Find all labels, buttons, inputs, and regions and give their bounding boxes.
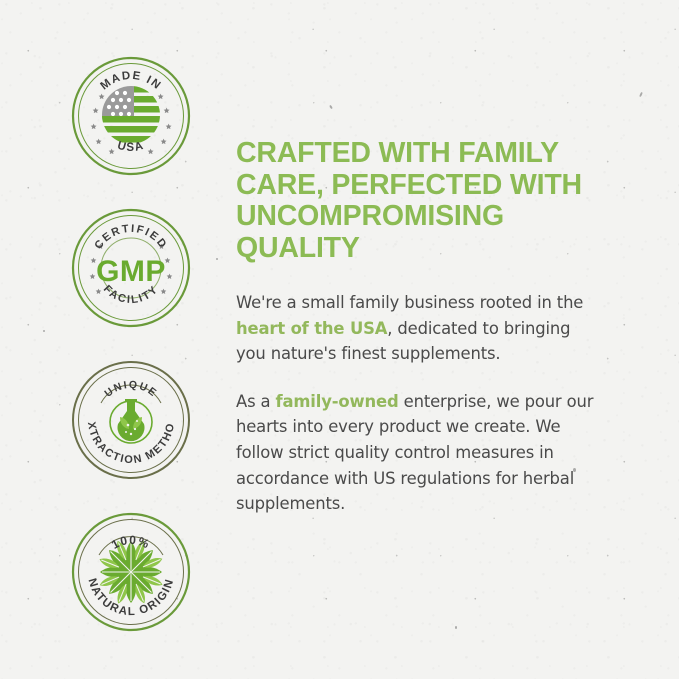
badge-made-in-usa: MADE IN USA — [70, 55, 192, 177]
paragraph-one: We're a small family business rooted in … — [236, 290, 596, 367]
trust-badge-column: MADE IN USA — [70, 55, 192, 663]
paragraph-two: As a family-owned enterprise, we pour ou… — [236, 389, 596, 517]
paragraph-one-highlight: heart of the USA — [236, 319, 387, 338]
badge-natural-origin: 100% NATURAL ORIGIN — [70, 511, 192, 633]
paragraph-one-text-before: We're a small family business rooted in … — [236, 293, 583, 312]
paper-speck — [43, 330, 45, 332]
paragraph-two-text-before: As a — [236, 392, 275, 411]
content-stage: MADE IN USA — [0, 0, 679, 679]
paper-speck — [329, 105, 333, 109]
flask-with-leaves-icon — [110, 399, 152, 443]
page-headline: Crafted with family care, perfected with… — [236, 138, 596, 264]
badge-unique-extraction-method: UNIQUE EXTRACTION METHOD — [70, 359, 192, 481]
badge-bottom-label: EXTRACTION METHOD — [70, 359, 177, 466]
paper-speck — [639, 92, 643, 97]
badge-gmp-certified-facility: GMP CERTIFIED FACILITY — [70, 207, 192, 329]
paper-speck — [455, 626, 457, 629]
badge-center-label: GMP — [96, 255, 166, 288]
paragraph-two-highlight: family-owned — [275, 392, 398, 411]
badge-bottom-label: USA — [116, 140, 146, 154]
paper-speck — [216, 258, 218, 260]
usa-flag-icon — [100, 86, 166, 143]
badge-top-label: CERTIFIED — [92, 223, 169, 252]
marketing-copy-column: Crafted with family care, perfected with… — [236, 138, 596, 517]
leaf-rosette-icon — [98, 539, 164, 605]
badge-top-label: UNIQUE — [102, 379, 159, 400]
